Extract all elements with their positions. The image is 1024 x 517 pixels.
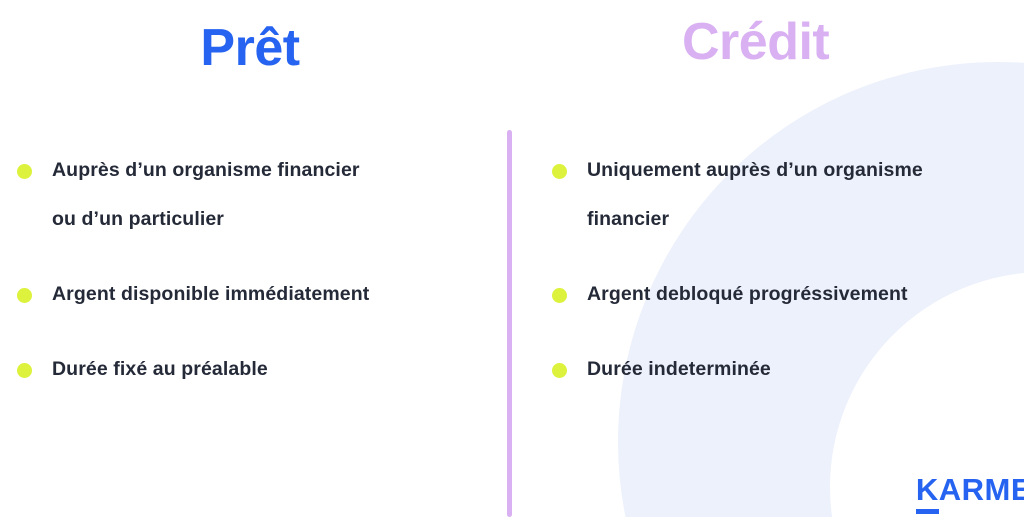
- column-divider: [507, 130, 512, 517]
- bullet-list-pret: Auprès d’un organisme financier ou d’un …: [0, 146, 500, 394]
- bullet-text-line: financier: [587, 195, 1024, 244]
- bullet-dot-icon: [552, 363, 567, 378]
- column-title-pret: Prêt: [0, 22, 500, 74]
- bullet-text-line: ou d’un particulier: [52, 195, 500, 244]
- list-item: Auprès d’un organisme financier ou d’un …: [17, 146, 500, 244]
- list-item: Argent debloqué progréssivement: [552, 270, 1024, 319]
- bullet-text-line: Argent disponible immédiatement: [52, 270, 500, 319]
- bullet-dot-icon: [552, 288, 567, 303]
- bullet-text-line: Durée indeterminée: [587, 345, 1024, 394]
- list-item: Durée fixé au préalable: [17, 345, 500, 394]
- bullet-dot-icon: [552, 164, 567, 179]
- column-title-credit: Crédit: [536, 16, 1024, 68]
- list-item: Durée indeterminée: [552, 345, 1024, 394]
- bullet-text-line: Argent debloqué progréssivement: [587, 270, 1024, 319]
- comparison-infographic: Prêt Auprès d’un organisme financier ou …: [0, 0, 1024, 517]
- bullet-text-line: Uniquement auprès d’un organisme: [587, 146, 1024, 195]
- bullet-dot-icon: [17, 164, 32, 179]
- bullet-dot-icon: [17, 363, 32, 378]
- logo-initial: K: [916, 472, 939, 514]
- column-pret: Prêt Auprès d’un organisme financier ou …: [0, 0, 500, 517]
- bullet-text-line: Auprès d’un organisme financier: [52, 146, 500, 195]
- list-item: Uniquement auprès d’un organisme financi…: [552, 146, 1024, 244]
- bullet-dot-icon: [17, 288, 32, 303]
- list-item: Argent disponible immédiatement: [17, 270, 500, 319]
- bullet-list-credit: Uniquement auprès d’un organisme financi…: [536, 146, 1024, 394]
- bullet-text-line: Durée fixé au préalable: [52, 345, 500, 394]
- logo-wordmark: ARME: [939, 472, 1024, 507]
- column-credit: Crédit Uniquement auprès d’un organisme …: [536, 0, 1024, 517]
- karmen-logo: KARME: [916, 474, 1024, 505]
